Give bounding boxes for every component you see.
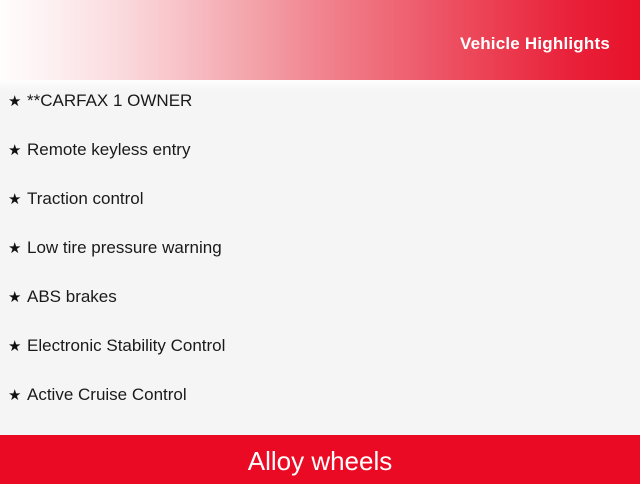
star-icon: ★ [8,192,27,207]
list-item: ★ Active Cruise Control [0,386,640,435]
panel-header: Vehicle Highlights [0,0,640,80]
highlight-label: ABS brakes [27,288,117,305]
star-icon: ★ [8,241,27,256]
footer-label: Alloy wheels [248,448,393,474]
star-icon: ★ [8,94,27,109]
highlight-label: Traction control [27,190,144,207]
list-item: ★ Low tire pressure warning [0,239,640,288]
highlight-label: **CARFAX 1 OWNER [27,92,192,109]
highlight-label: Electronic Stability Control [27,337,225,354]
page-title: Vehicle Highlights [460,35,610,52]
list-item: ★ Remote keyless entry [0,141,640,190]
star-icon: ★ [8,290,27,305]
star-icon: ★ [8,388,27,403]
list-item: ★ **CARFAX 1 OWNER [0,92,640,141]
highlight-label: Remote keyless entry [27,141,190,158]
panel-footer: Alloy wheels [0,435,640,484]
list-item: ★ Traction control [0,190,640,239]
star-icon: ★ [8,339,27,354]
vehicle-highlights-panel: Vehicle Highlights ★ **CARFAX 1 OWNER ★ … [0,0,640,480]
star-icon: ★ [8,143,27,158]
list-item: ★ ABS brakes [0,288,640,337]
highlights-list: ★ **CARFAX 1 OWNER ★ Remote keyless entr… [0,80,640,435]
highlight-label: Low tire pressure warning [27,239,222,256]
highlight-label: Active Cruise Control [27,386,187,403]
list-item: ★ Electronic Stability Control [0,337,640,386]
